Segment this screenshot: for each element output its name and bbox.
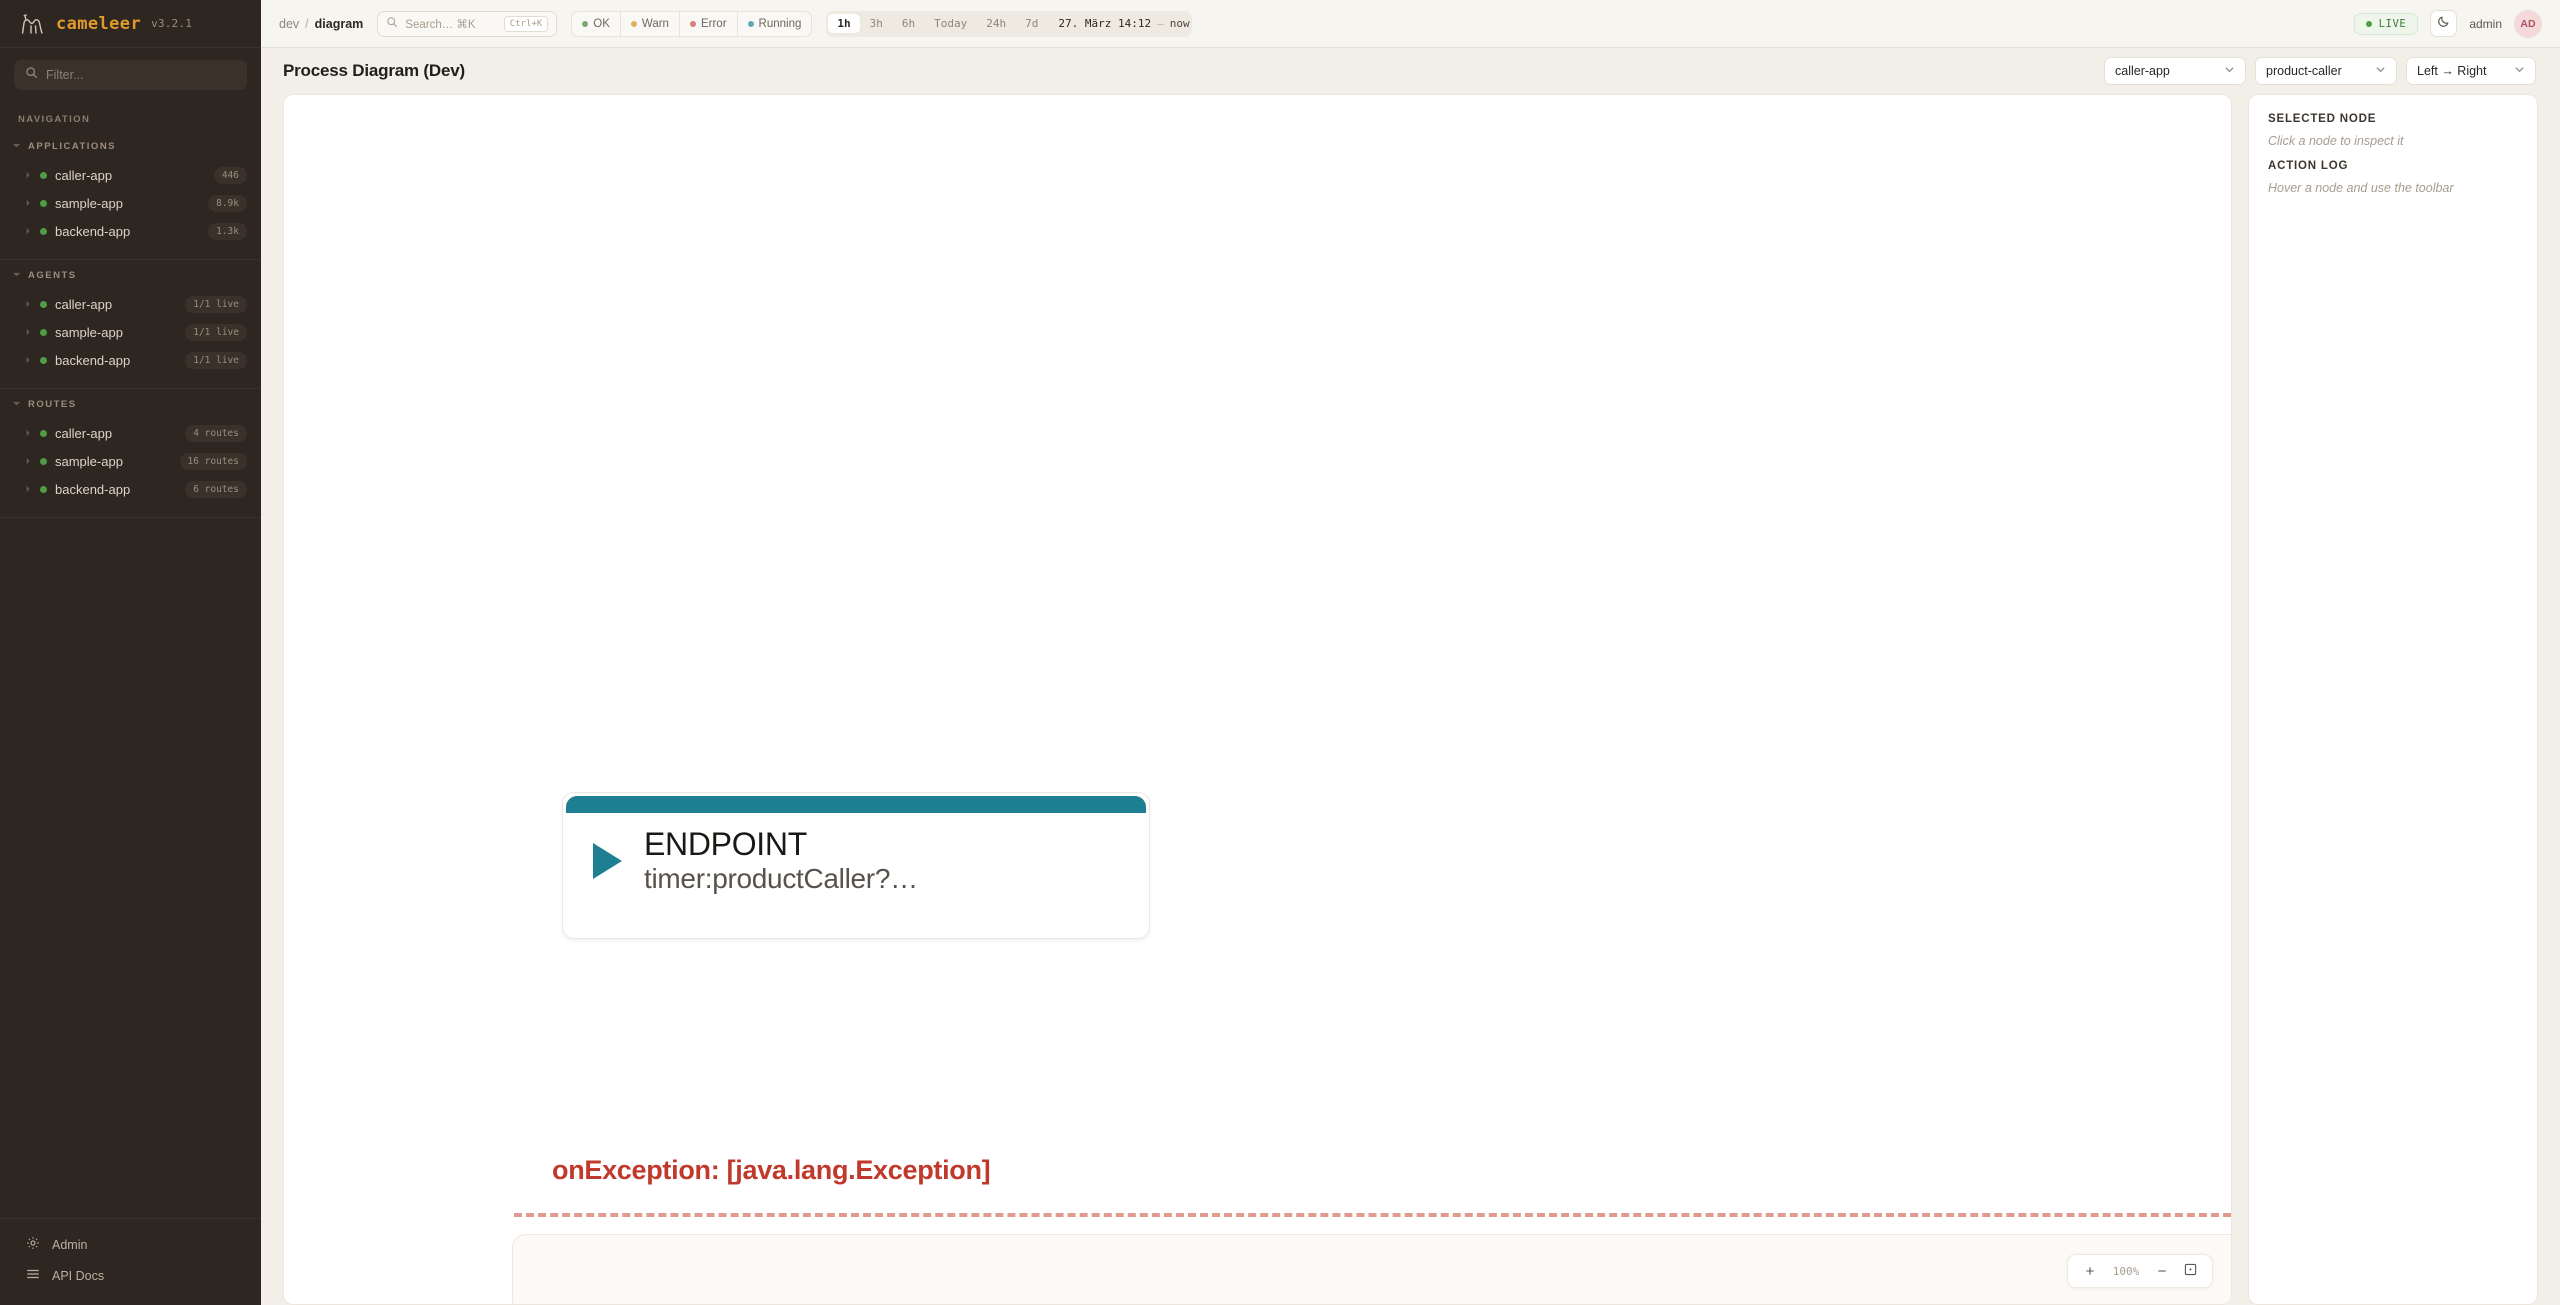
chevron-down-icon — [2224, 64, 2235, 78]
page-title: Process Diagram (Dev) — [283, 61, 465, 81]
sidebar-item-badge: 6 routes — [185, 481, 247, 498]
inspector-panel: SELECTED NODE Click a node to inspect it… — [2248, 94, 2538, 1305]
sidebar-item-label: sample-app — [55, 454, 172, 469]
status-chip-error[interactable]: Error — [680, 12, 738, 36]
sidebar-footer-label: Admin — [52, 1238, 87, 1252]
sidebar-group-routes: ROUTES caller-app 4 routes sample-app 16… — [0, 389, 261, 513]
chevron-down-icon — [2375, 64, 2386, 78]
time-button-7d[interactable]: 7d — [1016, 14, 1047, 33]
status-dot — [582, 21, 588, 27]
status-chip-running[interactable]: Running — [738, 12, 812, 36]
avatar[interactable]: AD — [2514, 10, 2542, 38]
chevron-right-icon — [24, 295, 32, 313]
status-dot — [748, 21, 754, 27]
topbar: dev / diagram Search… ⌘K Ctrl+K OK — [261, 0, 2560, 48]
moon-icon — [2437, 14, 2451, 33]
sidebar-filter-input[interactable] — [46, 68, 236, 82]
search-placeholder: Search… ⌘K — [405, 17, 496, 31]
page-header: Process Diagram (Dev) caller-app product… — [261, 48, 2560, 94]
chevron-down-icon — [12, 266, 21, 284]
sidebar-item-app-caller-app[interactable]: caller-app 446 — [0, 161, 261, 189]
node-texts: ENDPOINT timer:productCaller?… — [644, 827, 918, 895]
sidebar-item-route-caller-app[interactable]: caller-app 4 routes — [0, 419, 261, 447]
time-range-display: 27. März 14:12 — now — [1048, 17, 1189, 30]
sidebar-item-label: backend-app — [55, 482, 177, 497]
sidebar-item-app-backend-app[interactable]: backend-app 1.3k — [0, 217, 261, 245]
action-log-hint: Hover a node and use the toolbar — [2268, 181, 2518, 195]
sidebar-item-badge: 1.3k — [208, 223, 247, 240]
group-label: APPLICATIONS — [28, 141, 116, 152]
direction-select[interactable]: Left → Right — [2406, 57, 2536, 85]
diagram-canvas[interactable]: ENDPOINT timer:productCaller?… onExcepti… — [283, 94, 2232, 1305]
time-range-start: 27. März 14:12 — [1058, 17, 1151, 30]
route-select[interactable]: product-caller — [2255, 57, 2397, 85]
status-chip-ok[interactable]: OK — [572, 12, 621, 36]
sidebar-item-label: caller-app — [55, 168, 206, 183]
chevron-right-icon — [24, 351, 32, 369]
time-range-dash: — — [1157, 17, 1164, 30]
sidebar-filter-wrap — [0, 48, 261, 100]
status-dot — [40, 301, 47, 308]
theme-toggle-button[interactable] — [2430, 10, 2457, 37]
app-root: cameleer v3.2.1 NAVIGATION APPLICATIONS — [0, 0, 2560, 1305]
navigation-section-title: NAVIGATION — [0, 100, 261, 131]
sidebar-item-agent-caller-app[interactable]: caller-app 1/1 live — [0, 290, 261, 318]
content-body: ENDPOINT timer:productCaller?… onExcepti… — [261, 94, 2560, 1305]
fit-to-screen-button[interactable] — [2178, 1259, 2202, 1283]
status-dot — [631, 21, 637, 27]
node-kind-label: ENDPOINT — [644, 827, 918, 863]
sidebar: cameleer v3.2.1 NAVIGATION APPLICATIONS — [0, 0, 261, 1305]
sidebar-item-label: caller-app — [55, 426, 177, 441]
avatar-initials: AD — [2520, 18, 2535, 30]
diagram-node-endpoint[interactable]: ENDPOINT timer:productCaller?… — [562, 792, 1150, 939]
sidebar-item-badge: 1/1 live — [185, 324, 247, 341]
chevron-right-icon — [24, 222, 32, 240]
breadcrumb-current: diagram — [315, 17, 364, 31]
status-filter-group: OK Warn Error Running — [571, 11, 812, 37]
brand-version: v3.2.1 — [151, 17, 192, 30]
page-header-controls: caller-app product-caller Left → Right — [2104, 57, 2536, 85]
status-dot — [690, 21, 696, 27]
chevron-right-icon — [24, 323, 32, 341]
sidebar-group-applications: APPLICATIONS caller-app 446 sample-app 8… — [0, 131, 261, 255]
chevron-down-icon — [12, 137, 21, 155]
chevron-right-icon — [24, 452, 32, 470]
sidebar-item-agent-backend-app[interactable]: backend-app 1/1 live — [0, 346, 261, 374]
sidebar-item-badge: 1/1 live — [185, 352, 247, 369]
sidebar-filter[interactable] — [14, 60, 247, 90]
zoom-out-button[interactable]: − — [2150, 1259, 2174, 1283]
fit-to-screen-icon — [2184, 1263, 2197, 1280]
status-dot — [40, 486, 47, 493]
menu-icon — [26, 1267, 40, 1284]
sidebar-item-api-docs[interactable]: API Docs — [0, 1260, 261, 1291]
search-shortcut-badge: Ctrl+K — [504, 16, 549, 32]
brand[interactable]: cameleer v3.2.1 — [0, 0, 261, 48]
exception-region — [512, 1234, 2232, 1305]
chevron-right-icon — [24, 480, 32, 498]
breadcrumb-root[interactable]: dev — [279, 17, 299, 31]
status-chip-warn[interactable]: Warn — [621, 12, 680, 36]
status-dot — [40, 329, 47, 336]
group-header-applications[interactable]: APPLICATIONS — [0, 131, 261, 161]
time-button-24h[interactable]: 24h — [977, 14, 1015, 33]
sidebar-item-route-sample-app[interactable]: sample-app 16 routes — [0, 447, 261, 475]
sidebar-item-label: backend-app — [55, 353, 177, 368]
status-chip-label: OK — [593, 18, 610, 30]
status-dot — [40, 357, 47, 364]
time-range-selector: 1h 3h 6h Today 24h 7d 27. März 14:12 — n… — [826, 11, 1191, 37]
sidebar-item-agent-sample-app[interactable]: sample-app 1/1 live — [0, 318, 261, 346]
sidebar-footer: Admin API Docs — [0, 1218, 261, 1305]
status-chip-label: Warn — [642, 18, 669, 30]
time-button-3h[interactable]: 3h — [861, 14, 892, 33]
sidebar-footer-label: API Docs — [52, 1269, 104, 1283]
group-header-routes[interactable]: ROUTES — [0, 389, 261, 419]
zoom-in-button[interactable]: + — [2078, 1259, 2102, 1283]
chevron-right-icon — [24, 194, 32, 212]
sidebar-item-label: sample-app — [55, 325, 177, 340]
group-label: AGENTS — [28, 270, 77, 281]
exception-handler-label: onException: [java.lang.Exception] — [552, 1155, 990, 1186]
selected-node-title: SELECTED NODE — [2268, 113, 2518, 125]
live-label: LIVE — [2379, 18, 2407, 30]
live-dot — [2366, 21, 2372, 27]
application-select-value: caller-app — [2115, 64, 2170, 78]
application-select[interactable]: caller-app — [2104, 57, 2246, 85]
status-dot — [40, 458, 47, 465]
chevron-right-icon — [24, 166, 32, 184]
topbar-right: LIVE admin AD — [2354, 10, 2542, 38]
sidebar-item-badge: 446 — [214, 167, 247, 184]
sidebar-item-label: caller-app — [55, 297, 177, 312]
sidebar-item-badge: 4 routes — [185, 425, 247, 442]
status-chip-label: Running — [759, 18, 802, 30]
time-button-today[interactable]: Today — [925, 14, 976, 33]
node-accent-bar — [566, 796, 1146, 813]
breadcrumb-separator: / — [305, 17, 308, 31]
status-dot — [40, 228, 47, 235]
selected-node-hint: Click a node to inspect it — [2268, 134, 2518, 148]
sidebar-item-label: backend-app — [55, 224, 200, 239]
time-button-6h[interactable]: 6h — [893, 14, 924, 33]
exception-divider — [514, 1213, 2231, 1217]
live-indicator[interactable]: LIVE — [2354, 13, 2419, 35]
sidebar-group-agents: AGENTS caller-app 1/1 live sample-app 1/… — [0, 260, 261, 384]
sidebar-item-route-backend-app[interactable]: backend-app 6 routes — [0, 475, 261, 503]
chevron-down-icon — [2514, 64, 2525, 78]
divider — [0, 517, 261, 518]
direction-select-value: Left → Right — [2417, 64, 2486, 78]
main-area: dev / diagram Search… ⌘K Ctrl+K OK — [261, 0, 2560, 1305]
status-dot — [40, 172, 47, 179]
sidebar-item-badge: 8.9k — [208, 195, 247, 212]
search-input[interactable]: Search… ⌘K Ctrl+K — [377, 11, 557, 37]
route-select-value: product-caller — [2266, 64, 2342, 78]
zoom-controls: + 100% − — [2067, 1254, 2213, 1288]
search-icon — [386, 15, 398, 33]
action-log-title: ACTION LOG — [2268, 160, 2518, 172]
group-header-agents[interactable]: AGENTS — [0, 260, 261, 290]
node-uri-label: timer:productCaller?… — [644, 863, 918, 895]
node-body: ENDPOINT timer:productCaller?… — [563, 813, 1149, 895]
user-name: admin — [2469, 17, 2502, 31]
gear-icon — [26, 1236, 40, 1253]
search-icon — [25, 66, 38, 84]
status-dot — [40, 200, 47, 207]
status-dot — [40, 430, 47, 437]
camel-icon — [20, 12, 46, 36]
sidebar-item-label: sample-app — [55, 196, 200, 211]
sidebar-item-badge: 1/1 live — [185, 296, 247, 313]
sidebar-item-app-sample-app[interactable]: sample-app 8.9k — [0, 189, 261, 217]
time-range-end: now — [1170, 17, 1190, 30]
breadcrumb: dev / diagram — [279, 17, 363, 31]
brand-name: cameleer — [56, 14, 141, 34]
status-chip-label: Error — [701, 18, 727, 30]
chevron-down-icon — [12, 395, 21, 413]
chevron-right-icon — [24, 424, 32, 442]
sidebar-item-badge: 16 routes — [180, 453, 247, 470]
zoom-level: 100% — [2106, 1265, 2146, 1278]
play-icon — [593, 843, 622, 879]
group-label: ROUTES — [28, 399, 77, 410]
sidebar-item-admin[interactable]: Admin — [0, 1229, 261, 1260]
time-button-1h[interactable]: 1h — [828, 14, 859, 33]
